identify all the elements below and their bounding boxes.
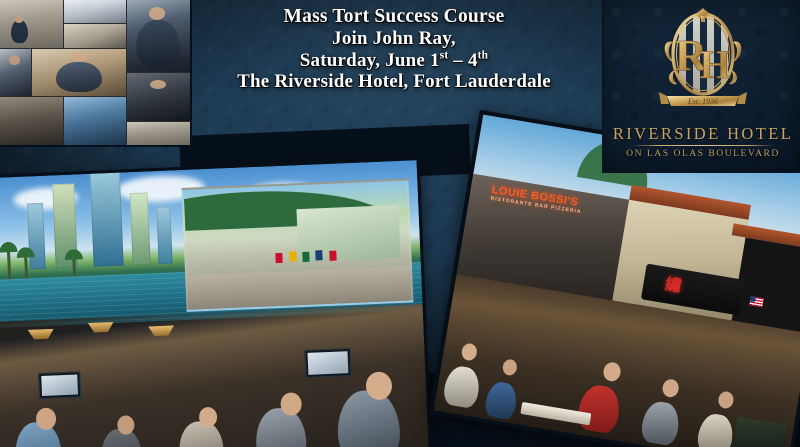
diner-figure <box>639 399 681 446</box>
diner-head <box>661 378 680 398</box>
hotel-name-text: RIVERSIDE HOTEL <box>604 124 800 144</box>
us-flag-icon <box>749 296 763 307</box>
photo-tile-speaker-with-badge <box>0 49 31 97</box>
figure-silhouette <box>56 62 101 92</box>
building-tower <box>89 160 123 267</box>
audience-member <box>178 421 224 447</box>
street-pavement <box>187 267 412 310</box>
headline-date-prefix: Saturday, June 1 <box>300 50 440 71</box>
palm-tree <box>7 248 11 282</box>
hotel-subtitle-text: ON LAS OLAS BOULEVARD <box>604 148 800 159</box>
collage-inner <box>0 160 429 447</box>
svg-text:H: H <box>699 42 730 87</box>
diner-figure <box>442 364 482 409</box>
headline-line-venue: The Riverside Hotel, Fort Lauderdale <box>188 71 600 92</box>
street-building <box>296 205 401 262</box>
photo-tile-speaker-at-lectern <box>127 0 190 72</box>
collage-fort-lauderdale <box>0 157 432 447</box>
ceiling-lamp <box>88 322 114 333</box>
crest-ribbon-text: Est. 1936 <box>687 97 718 106</box>
event-headline: Mass Tort Success Course Join John Ray, … <box>188 2 600 92</box>
diner-figure <box>576 383 623 435</box>
headline-line-dates: Saturday, June 1st – 4th <box>188 50 600 71</box>
slide-canvas: LOUIE BOSSI'S RISTORANTE BAR PIZZERIA 繡 … <box>0 0 800 447</box>
photo-tile-speaker-dark-shirt <box>127 73 190 121</box>
presentation-monitor <box>304 348 351 378</box>
audience-member <box>255 407 307 447</box>
audience-head <box>280 392 302 416</box>
diner-head <box>602 361 622 383</box>
figure-head <box>150 80 166 90</box>
photo-tile-speaker-gesturing <box>32 49 127 97</box>
building-tower <box>130 192 151 265</box>
speaker-tile-grid <box>0 0 190 145</box>
photo-ballroom-audience <box>0 304 429 447</box>
figure-head <box>149 7 165 20</box>
photo-tile-audience-seated <box>0 97 63 145</box>
diner-head <box>501 358 517 376</box>
figure-head <box>72 52 87 62</box>
diner-head <box>717 391 735 410</box>
street-flag <box>316 250 323 260</box>
photo-las-olas-street-with-flags <box>181 178 414 311</box>
collage-speakers <box>0 0 192 147</box>
figure-silhouette <box>136 20 180 68</box>
headline-date-dash: – 4 <box>448 50 477 71</box>
patio-planter <box>733 417 787 447</box>
street-flag <box>289 251 296 261</box>
ceiling-lamp <box>148 325 174 336</box>
photo-tile-breakout-session <box>127 122 190 145</box>
diner-head <box>460 342 478 361</box>
figure-silhouette <box>11 20 27 43</box>
figure-head <box>9 55 19 65</box>
riverside-hotel-logo-panel: R H Est. 1936 RIVERSIDE HOTEL ON LAS OLA… <box>602 0 800 173</box>
riverside-hotel-crest-icon: R H Est. 1936 <box>655 4 751 116</box>
diner-figure <box>484 380 520 420</box>
asian-restaurant-sign-icon: 繡 <box>664 270 684 296</box>
audience-member <box>336 389 401 447</box>
presentation-monitor <box>38 371 81 399</box>
building-tower <box>27 203 46 270</box>
photo-tile-presenter-at-podium <box>0 0 63 48</box>
street-flag <box>302 252 309 262</box>
street-flag <box>329 251 336 261</box>
photo-tile-projection-screen <box>64 0 127 23</box>
headline-date-ordinal-second: th <box>478 49 489 61</box>
diner-figure <box>695 412 735 447</box>
audience-head <box>35 407 56 430</box>
headline-line-course-title: Mass Tort Success Course <box>188 6 600 28</box>
audience-head <box>199 407 218 428</box>
photo-tile-seminar-room <box>64 24 127 47</box>
street-flag <box>276 253 283 263</box>
photo-outdoor-patio-crowd <box>434 274 800 447</box>
headline-line-speaker: Join John Ray, <box>188 28 600 49</box>
ceiling-lamp <box>28 329 54 340</box>
figure-head <box>15 16 23 23</box>
hotel-name-divider <box>632 145 774 146</box>
building-tower <box>156 206 172 264</box>
audience-head <box>365 371 392 400</box>
photo-tile-panel-discussion <box>64 97 127 145</box>
